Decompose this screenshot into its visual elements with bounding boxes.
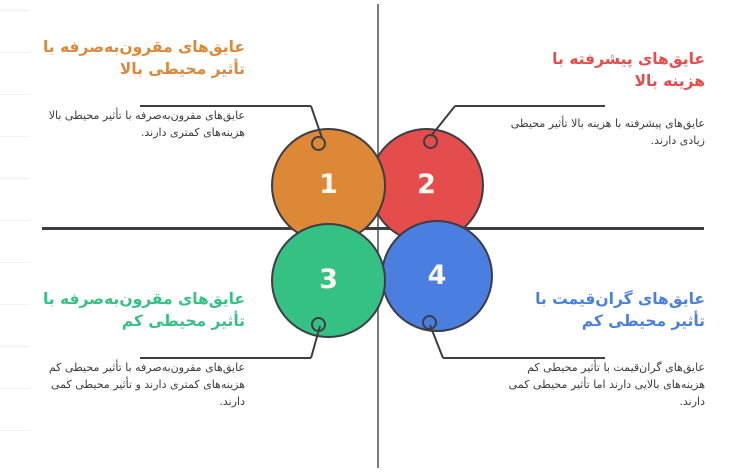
connector-line-4 xyxy=(0,0,746,472)
connector-marker-2 xyxy=(423,134,438,149)
infographic-canvas: 1 2 3 4 عایق‌های مقرون‌به‌صرفه با تأثیر … xyxy=(0,0,746,472)
connector-marker-1 xyxy=(311,136,326,151)
connector-marker-3 xyxy=(311,317,326,332)
connector-marker-4 xyxy=(422,315,437,330)
